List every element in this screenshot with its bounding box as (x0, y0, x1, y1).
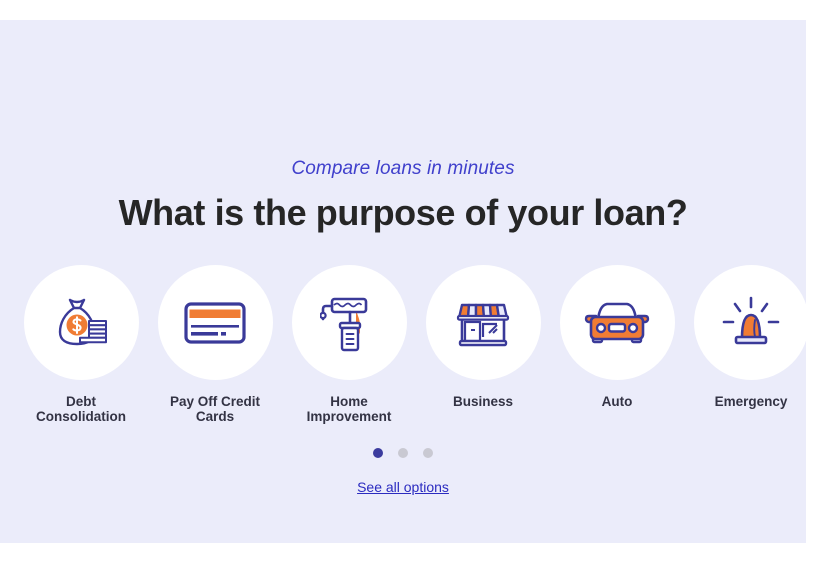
pagination-dot-3[interactable] (423, 448, 433, 458)
money-bag-icon (50, 294, 112, 352)
siren-icon (720, 295, 782, 351)
icon-circle (292, 265, 407, 380)
loan-purpose-carousel: Debt Consolidation Pay Off Credit Cards (0, 246, 819, 426)
carousel-pagination (0, 448, 806, 458)
carousel-item-auto[interactable]: Auto (550, 246, 684, 409)
icon-circle (158, 265, 273, 380)
paint-roller-icon (320, 292, 378, 354)
storefront-icon (452, 296, 514, 350)
carousel-item-label: Home Improvement (282, 394, 416, 424)
carousel-item-emergency[interactable]: Emergency (684, 246, 818, 409)
icon-circle (560, 265, 675, 380)
carousel-item-label: Auto (550, 394, 684, 409)
hero-subtitle: Compare loans in minutes (0, 20, 806, 180)
car-icon (584, 298, 650, 348)
icon-circle (426, 265, 541, 380)
carousel-item-label: Business (416, 394, 550, 409)
carousel-item-label: Emergency (684, 394, 818, 409)
icon-circle (24, 265, 139, 380)
pagination-dot-2[interactable] (398, 448, 408, 458)
carousel-item-business[interactable]: Business (416, 246, 550, 409)
carousel-item-pay-off-credit-cards[interactable]: Pay Off Credit Cards (148, 246, 282, 424)
carousel-item-debt-consolidation[interactable]: Debt Consolidation (14, 246, 148, 424)
carousel-item-label: Debt Consolidation (14, 394, 148, 424)
hero-title: What is the purpose of your loan? (0, 180, 806, 234)
hero-section: Compare loans in minutes What is the pur… (0, 20, 806, 234)
see-all-options-container: See all options (0, 479, 806, 497)
pagination-dot-1[interactable] (373, 448, 383, 458)
carousel-item-label: Pay Off Credit Cards (148, 394, 282, 424)
promo-panel: Compare loans in minutes What is the pur… (0, 20, 806, 543)
icon-circle (694, 265, 809, 380)
carousel-item-home-improvement[interactable]: Home Improvement (282, 246, 416, 424)
see-all-options-link[interactable]: See all options (357, 479, 449, 495)
credit-card-icon (183, 299, 247, 347)
